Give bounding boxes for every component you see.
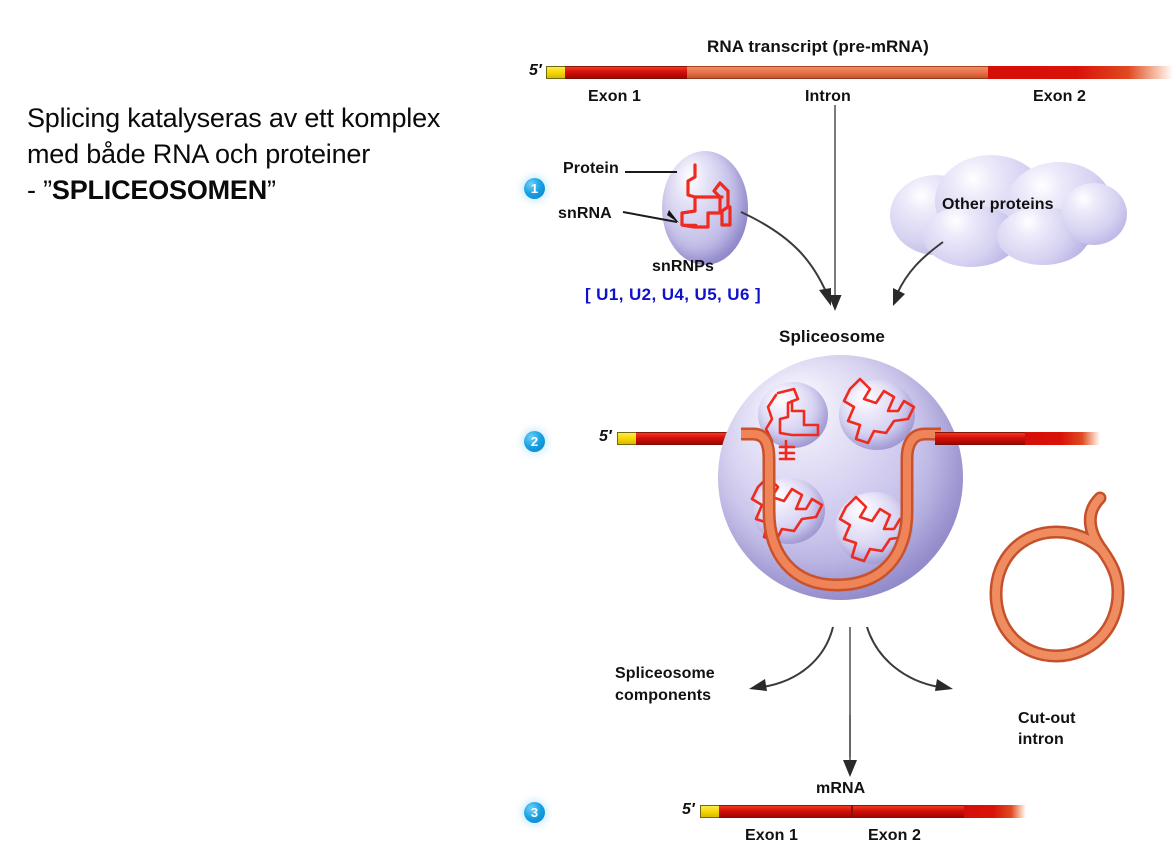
protein-label: Protein: [563, 160, 619, 178]
emphasis-suffix: ”: [267, 175, 276, 205]
exon1-segment-mrna: [719, 805, 852, 818]
other-proteins-label: Other proteins: [942, 196, 1054, 214]
intron-segment-transcript: [687, 66, 989, 79]
splicing-diagram: RNA transcript (pre-mRNA) 5′ Exon 1 Intr…: [505, 0, 1174, 868]
step-badge-3: 3: [524, 802, 545, 823]
step-badge-2: 2: [524, 431, 545, 452]
slide-text-line-2: med både RNA och proteiner: [27, 136, 497, 172]
cutout-intron-label-2: intron: [1018, 731, 1064, 749]
five-prime-label-transcript: 5′: [529, 62, 542, 80]
cutout-intron-label-1: Cut-out: [1018, 710, 1076, 728]
slide-text-block: Splicing katalyseras av ett komplex med …: [27, 100, 497, 208]
mrna-fade-end: [964, 805, 1026, 818]
exon2-segment-step2: [935, 432, 1028, 445]
five-prime-label-step2: 5′: [599, 428, 612, 446]
transcript-title: RNA transcript (pre-mRNA): [707, 37, 929, 57]
intron-label-transcript: Intron: [805, 88, 851, 106]
mrna-label: mRNA: [816, 780, 865, 798]
exon2-label-mrna: Exon 2: [868, 827, 921, 845]
cap-5prime-transcript: [546, 66, 566, 79]
slide-text-line-3: - ”SPLICEOSOMEN”: [27, 172, 497, 208]
emphasis-term: SPLICEOSOMEN: [52, 175, 267, 205]
exon2-fade-step2: [1025, 432, 1100, 445]
exon2-label-transcript: Exon 2: [1033, 88, 1086, 106]
snrnp-leader-lines: [615, 160, 710, 240]
snrna-label: snRNA: [558, 205, 612, 223]
emphasis-prefix: - ”: [27, 175, 52, 205]
cap-5prime-mrna: [700, 805, 720, 818]
step-badge-1: 1: [524, 178, 545, 199]
snrnps-caption: snRNPs: [652, 258, 714, 276]
exon2-segment-mrna: [851, 805, 966, 818]
spliceosome-label: Spliceosome: [779, 327, 885, 347]
exon2-segment-transcript: [988, 66, 1173, 79]
exon-junction-marker: [851, 805, 853, 818]
spliceosome-components-label-1: Spliceosome: [615, 665, 715, 683]
mrna-flow-arrow: [725, 715, 1005, 785]
spliceosome-components-label-2: components: [615, 687, 711, 705]
assembly-arrows: [735, 210, 955, 320]
release-arrows: [725, 625, 1005, 715]
slide-text-line-1: Splicing katalyseras av ett komplex: [27, 100, 497, 136]
five-prime-label-mrna: 5′: [682, 801, 695, 819]
exon1-segment-transcript: [565, 66, 688, 79]
exon1-label-transcript: Exon 1: [588, 88, 641, 106]
exon1-label-mrna: Exon 1: [745, 827, 798, 845]
cutout-intron-lasso: [980, 488, 1170, 708]
